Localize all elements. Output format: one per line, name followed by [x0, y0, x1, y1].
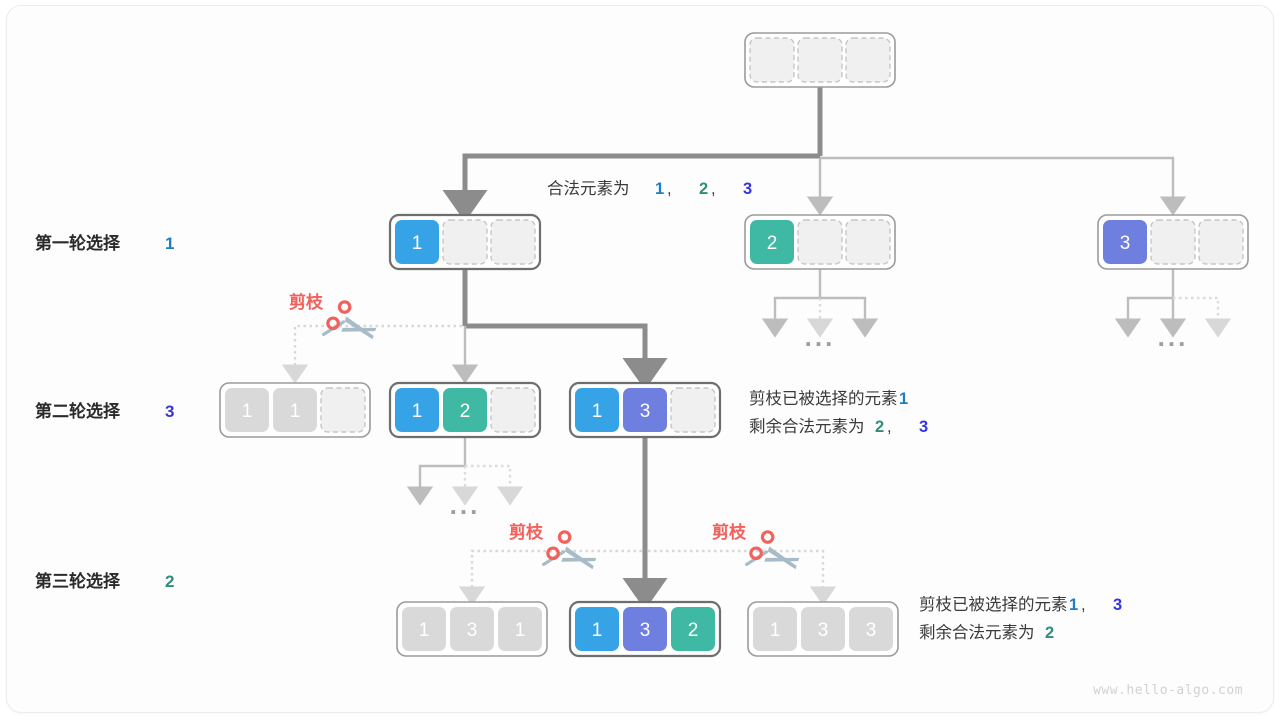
cell-value: 1 — [412, 233, 423, 254]
cell-value: 1 — [419, 620, 430, 641]
scissors-icon — [544, 529, 601, 580]
round-1-label: 第一轮选择 — [35, 233, 121, 253]
edge-13-to-133-pruned — [648, 551, 823, 596]
cell-value: 1 — [412, 401, 423, 422]
cell-box — [443, 220, 487, 264]
prune-label: 剪枝 — [289, 292, 324, 312]
node-cell: 3 — [849, 607, 893, 651]
round-2-label: 第二轮选择 — [35, 401, 121, 421]
node-cell: 2 — [750, 220, 794, 264]
row3-note-line2-value-1: 2 — [1045, 624, 1054, 642]
node-2[interactable]: 2 — [745, 215, 895, 269]
ellipsis: ... — [805, 322, 836, 352]
row3-note-line1-value-1: 1 — [1069, 596, 1078, 614]
node-cell — [846, 38, 890, 82]
nodes-layer: 123111213131132133 — [220, 33, 1248, 656]
row3-note-line1-text: 剪枝已被选择的元素 — [919, 595, 1068, 614]
root-choice-value-3: 3 — [743, 180, 752, 198]
row2-note-line2-value-2: 3 — [919, 418, 928, 436]
node-3[interactable]: 3 — [1098, 215, 1248, 269]
node-1-2[interactable]: 12 — [390, 383, 540, 437]
node-cell — [671, 388, 715, 432]
scissors-icon — [747, 529, 804, 580]
cell-box — [846, 220, 890, 264]
edge-1-to-13 — [465, 326, 645, 374]
prune-marker: 剪枝 — [289, 292, 381, 349]
round-3-value: 2 — [165, 572, 174, 591]
row2-note-line2-value-1: 2 — [875, 418, 884, 436]
root-choices-text: 合法元素为 — [547, 179, 630, 198]
cell-value: 1 — [290, 401, 301, 422]
node-cell: 1 — [402, 607, 446, 651]
node-1-3[interactable]: 13 — [570, 383, 720, 437]
cell-value: 3 — [467, 620, 478, 641]
node-cell — [1151, 220, 1195, 264]
node-cell: 3 — [801, 607, 845, 651]
node-cell — [798, 220, 842, 264]
node-cell: 3 — [450, 607, 494, 651]
cell-value: 3 — [1120, 233, 1131, 254]
node-cell — [321, 388, 365, 432]
cell-value: 1 — [242, 401, 253, 422]
edge-root-to-3 — [820, 158, 1173, 206]
edges-layer — [295, 81, 1218, 596]
root-choices-sep-2: , — [711, 180, 716, 198]
round-1-value: 1 — [165, 234, 174, 253]
round-2-value: 3 — [165, 402, 174, 421]
cell-value: 3 — [640, 620, 651, 641]
root-choices-annotation: 合法元素为 1 , 2 , 3 — [547, 179, 752, 198]
node-1-3-3-pruned[interactable]: 133 — [748, 602, 898, 656]
root-choice-value-1: 1 — [655, 180, 664, 198]
cell-value: 1 — [515, 620, 526, 641]
node-cell: 3 — [1103, 220, 1147, 264]
prune-label: 剪枝 — [509, 522, 544, 542]
row2-note-line2-text: 剩余合法元素为 — [749, 417, 865, 436]
node-cell — [443, 220, 487, 264]
cell-box — [798, 38, 842, 82]
cell-box — [321, 388, 365, 432]
cell-box — [846, 38, 890, 82]
node-1[interactable]: 1 — [390, 215, 540, 269]
node-cell: 1 — [753, 607, 797, 651]
cell-value: 2 — [460, 401, 471, 422]
cell-box — [671, 388, 715, 432]
node-cell — [491, 388, 535, 432]
cell-value: 2 — [688, 620, 699, 641]
node-1-3-2[interactable]: 132 — [570, 602, 720, 656]
cell-box — [491, 220, 535, 264]
cell-box — [750, 38, 794, 82]
node-cell — [491, 220, 535, 264]
node-cell: 1 — [273, 388, 317, 432]
row2-note-sep: , — [887, 418, 892, 436]
cell-value: 2 — [767, 233, 778, 254]
node-cell — [798, 38, 842, 82]
round-labels: 第一轮选择 1 第二轮选择 3 第三轮选择 2 — [35, 233, 174, 591]
cell-box — [491, 388, 535, 432]
row2-note-line1-text: 剪枝已被选择的元素 — [749, 389, 898, 408]
root-node[interactable] — [745, 33, 895, 87]
round-3-label: 第三轮选择 — [35, 571, 121, 591]
node-cell: 1 — [225, 388, 269, 432]
node-cell: 1 — [575, 607, 619, 651]
node-cell — [1199, 220, 1243, 264]
cell-value: 1 — [592, 401, 603, 422]
backtracking-pruning-diagram: 123111213131132133 第一轮选择 1 第二轮选择 3 第三轮选择… — [7, 6, 1273, 712]
node-cell — [750, 38, 794, 82]
node-cell: 3 — [623, 607, 667, 651]
node-cell — [846, 220, 890, 264]
node-cell: 1 — [498, 607, 542, 651]
node-cell: 1 — [395, 388, 439, 432]
ellipsis: ... — [1158, 322, 1189, 352]
node-cell: 1 — [395, 220, 439, 264]
cell-box — [798, 220, 842, 264]
cell-value: 1 — [592, 620, 603, 641]
cell-value: 1 — [770, 620, 781, 641]
ellipsis: ... — [450, 490, 481, 520]
cell-value: 3 — [640, 401, 651, 422]
node-1-3-1-pruned[interactable]: 131 — [397, 602, 547, 656]
cell-value: 3 — [818, 620, 829, 641]
edge-root-to-1 — [465, 156, 820, 206]
root-choice-value-2: 2 — [699, 180, 708, 198]
row3-note: 剪枝已被选择的元素 1 , 3 剩余合法元素为 2 — [919, 595, 1122, 642]
diagram-card: 123111213131132133 第一轮选择 1 第二轮选择 3 第三轮选择… — [7, 6, 1273, 712]
edge-1-to-11-pruned — [295, 326, 462, 374]
row2-note: 剪枝已被选择的元素 1 剩余合法元素为 2 , 3 — [749, 389, 928, 436]
scissors-icon — [324, 299, 381, 350]
node-cell: 2 — [443, 388, 487, 432]
cell-value: 3 — [866, 620, 877, 641]
node-1-1-pruned[interactable]: 11 — [220, 383, 370, 437]
row3-note-line2-text: 剩余合法元素为 — [919, 623, 1035, 642]
watermark: www.hello-algo.com — [1093, 683, 1243, 698]
row2-note-line1-value-1: 1 — [899, 390, 908, 408]
row3-note-sep: , — [1081, 596, 1086, 614]
row3-note-line1-value-2: 3 — [1113, 596, 1122, 614]
prune-label: 剪枝 — [712, 522, 747, 542]
node-cell: 1 — [575, 388, 619, 432]
node-cell: 3 — [623, 388, 667, 432]
cell-box — [1151, 220, 1195, 264]
node-cell: 2 — [671, 607, 715, 651]
root-choices-sep-1: , — [667, 180, 672, 198]
cell-box — [1199, 220, 1243, 264]
